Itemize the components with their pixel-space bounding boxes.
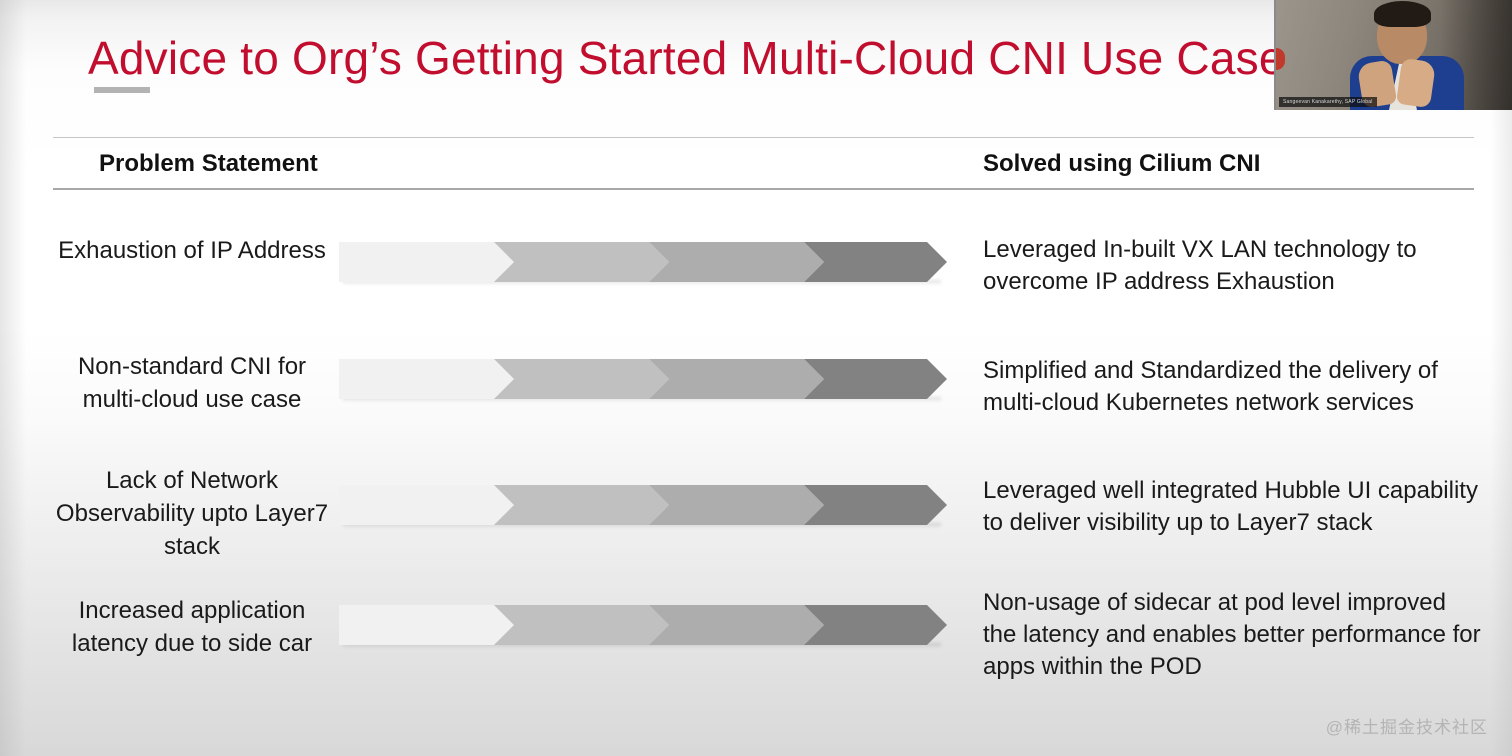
presentation-slide: Advice to Org’s Getting Started Multi-Cl… — [0, 0, 1512, 756]
presenter-name-label: Sangeevan Kanakarethy, SAP Global — [1279, 97, 1377, 107]
table-top-divider — [53, 137, 1474, 138]
chevron-segment-2 — [494, 605, 669, 645]
problem-statement-text: Increased application latency due to sid… — [48, 594, 336, 660]
solution-text: Leveraged well integrated Hubble UI capa… — [983, 475, 1483, 539]
presenter-video-overlay[interactable]: Sangeevan Kanakarethy, SAP Global — [1274, 0, 1512, 110]
problem-statement-text: Exhaustion of IP Address — [48, 234, 336, 267]
chevron-segment-3 — [649, 359, 824, 399]
solution-text: Non-usage of sidecar at pod level improv… — [983, 587, 1483, 683]
problem-statement-text: Non-standard CNI for multi-cloud use cas… — [48, 350, 336, 416]
chevron-arrow-band — [339, 605, 947, 645]
chevron-segment-4 — [804, 242, 947, 282]
page-title: Advice to Org’s Getting Started Multi-Cl… — [88, 28, 1285, 88]
chevron-segment-3 — [649, 485, 824, 525]
solution-text: Simplified and Standardized the delivery… — [983, 355, 1483, 419]
chevron-segment-4 — [804, 605, 947, 645]
chevron-segment-3 — [649, 605, 824, 645]
chevron-segment-3 — [649, 242, 824, 282]
table-header-divider — [53, 188, 1474, 190]
chevron-arrow-band — [339, 359, 947, 399]
chevron-segment-2 — [494, 359, 669, 399]
title-underline-accent — [94, 87, 150, 93]
chevron-segment-1 — [339, 242, 514, 282]
chevron-segment-4 — [804, 359, 947, 399]
watermark: @稀土掘金技术社区 — [1326, 713, 1488, 738]
chevron-segment-4 — [804, 485, 947, 525]
chevron-segment-1 — [339, 485, 514, 525]
chevron-segment-1 — [339, 359, 514, 399]
solution-text: Leveraged In-built VX LAN technology to … — [983, 234, 1483, 298]
chevron-arrow-band — [339, 242, 947, 282]
presenter-hair — [1374, 1, 1431, 27]
chevron-arrow-band — [339, 485, 947, 525]
chevron-segment-1 — [339, 605, 514, 645]
column-header-problem-statement: Problem Statement — [99, 150, 318, 178]
column-header-solved-using-cilium-cni: Solved using Cilium CNI — [983, 150, 1260, 178]
presenter-right-hand — [1396, 58, 1436, 108]
chevron-segment-2 — [494, 485, 669, 525]
problem-statement-text: Lack of Network Observability upto Layer… — [48, 464, 336, 563]
chevron-segment-2 — [494, 242, 669, 282]
